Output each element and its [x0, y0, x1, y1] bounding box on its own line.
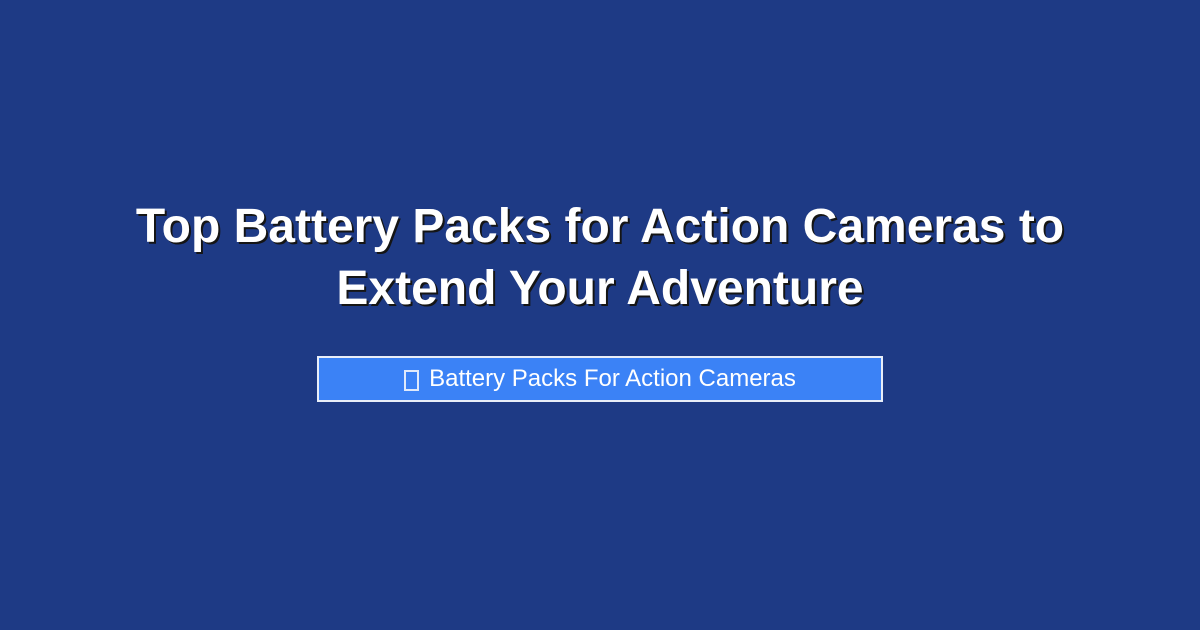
page-title: Top Battery Packs for Action Cameras to …: [70, 196, 1130, 320]
battery-packs-for-action-cameras-badge[interactable]: Battery Packs For Action Cameras: [317, 356, 883, 402]
hero-card: Top Battery Packs for Action Cameras to …: [0, 0, 1200, 630]
badge-row: Battery Packs For Action Cameras: [0, 356, 1200, 402]
badge-label: Battery Packs For Action Cameras: [429, 367, 796, 391]
battery-emoji-missing-glyph-icon: [404, 370, 419, 391]
